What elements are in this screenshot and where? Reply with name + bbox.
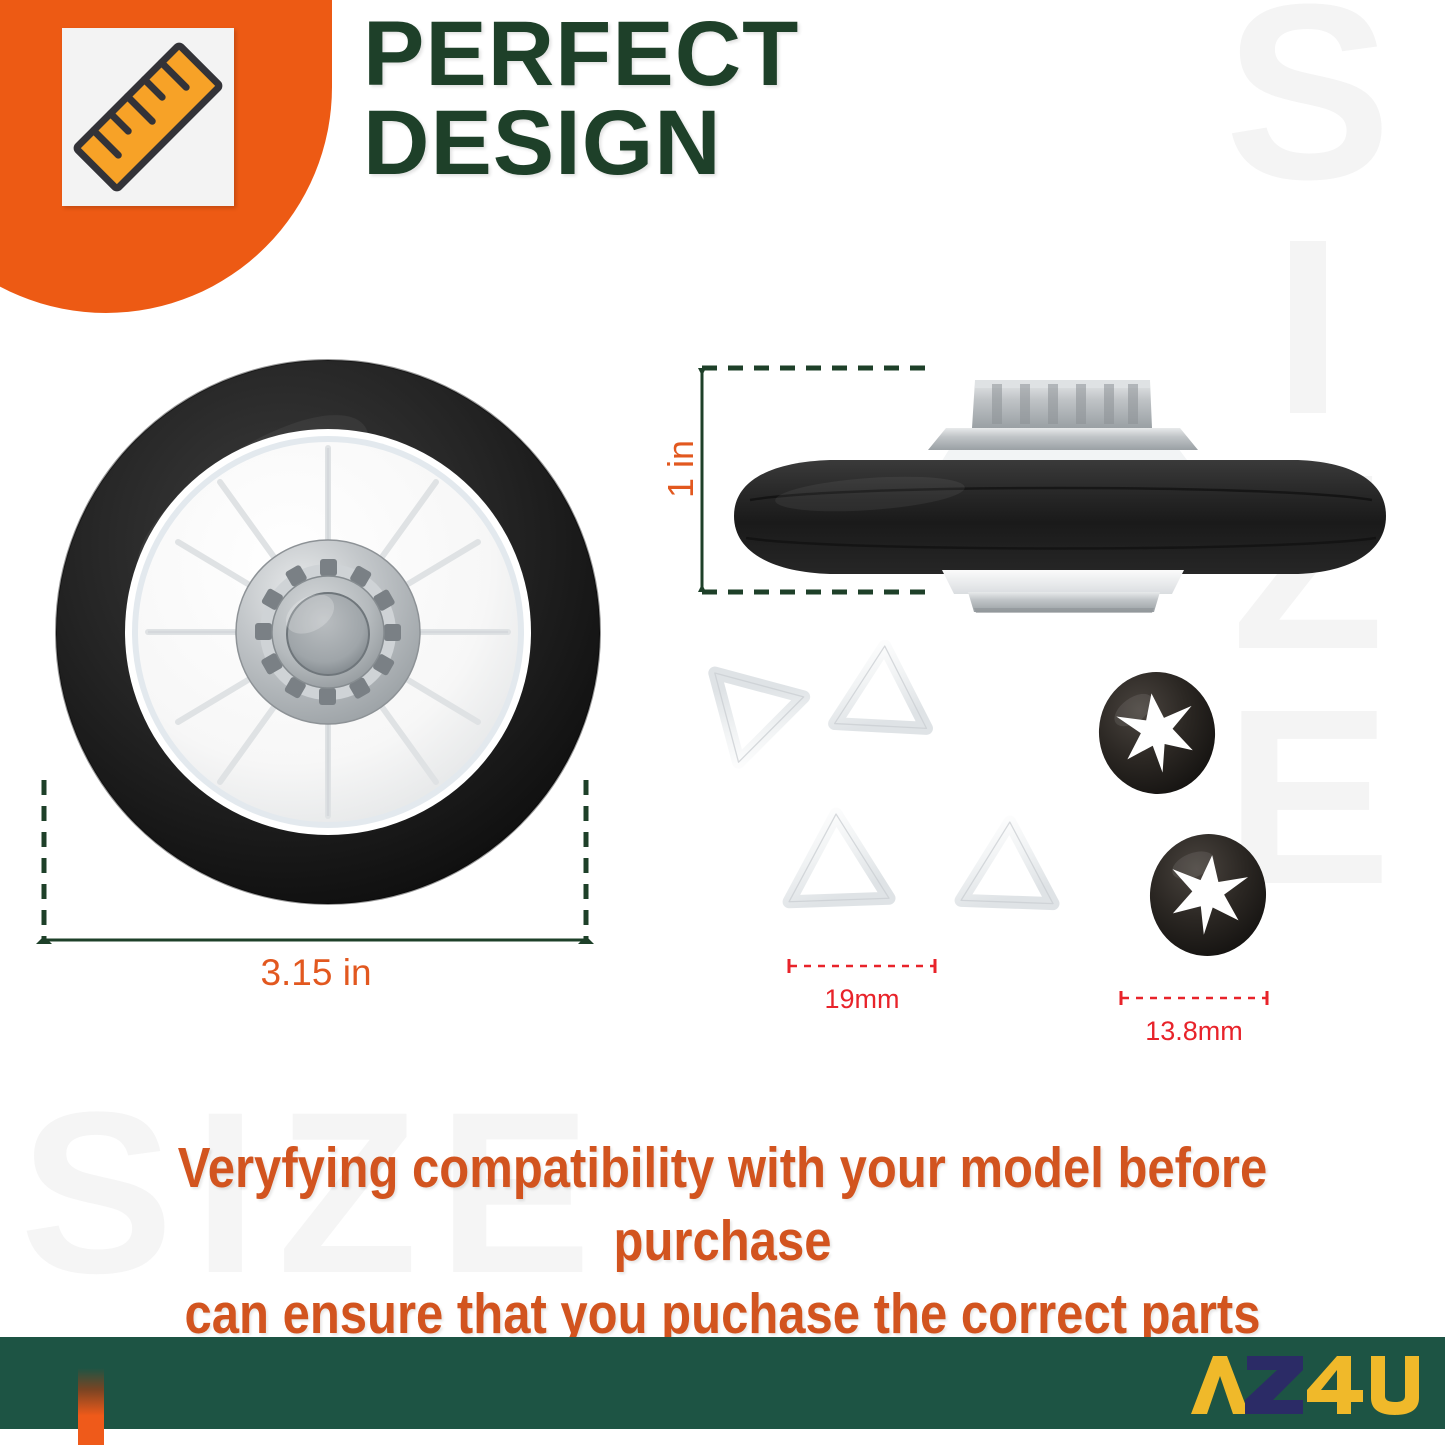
- az4u-logo: [1187, 1352, 1427, 1418]
- washer-dimension: 13.8mm: [1118, 990, 1318, 1047]
- triangle-ring-dimension: 19mm: [786, 958, 986, 1015]
- diameter-label: 3.15 in: [36, 952, 596, 994]
- clear-plastic-triangle-ring: [786, 812, 889, 901]
- clear-plastic-triangle-ring: [835, 644, 931, 729]
- diameter-dimension: 3.15 in: [36, 776, 596, 991]
- black-star-push-nut-washer: [1091, 665, 1223, 802]
- washer-dimension-line: [1118, 990, 1270, 1006]
- thickness-label: 1 in: [660, 394, 702, 544]
- footer-orange-accent: [78, 1368, 104, 1445]
- az4u-logo-mark: [1187, 1352, 1427, 1418]
- diameter-dimension-line: [36, 776, 596, 951]
- page-title: PERFECT DESIGN: [363, 10, 1223, 188]
- title-line-1: PERFECT: [363, 3, 799, 105]
- washer-dimension-label: 13.8mm: [1118, 1011, 1270, 1047]
- ruler-icon-card: [62, 28, 234, 206]
- title-line-2: DESIGN: [363, 99, 1223, 188]
- ruler-icon: [62, 28, 234, 206]
- dryer-drum-roller-side-image: [720, 356, 1400, 614]
- clear-plastic-triangle-ring: [694, 673, 804, 774]
- clear-plastic-triangle-ring: [961, 820, 1056, 903]
- black-star-push-nut-washer: [1144, 828, 1272, 961]
- triangle-ring-dimension-line: [786, 958, 938, 974]
- triangle-ring-dimension-label: 19mm: [786, 979, 938, 1015]
- watermark-letter: S: [1225, 0, 1394, 209]
- message-line-1: Veryfying compatibility with your model …: [101, 1132, 1344, 1278]
- included-small-parts: [690, 640, 1330, 970]
- product-infographic: S I Z E SIZE PERFECT DESIGN: [0, 0, 1445, 1445]
